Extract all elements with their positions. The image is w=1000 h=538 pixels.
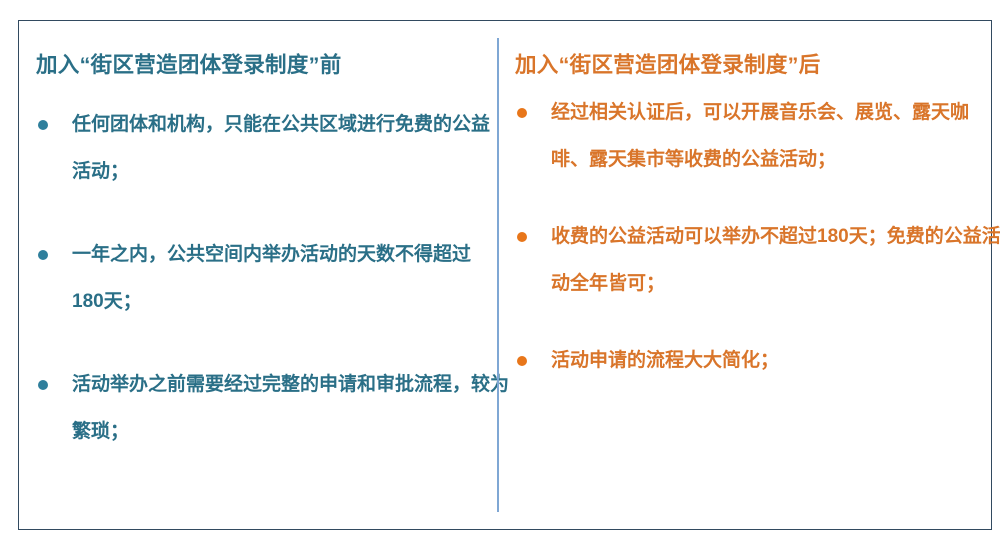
list-item-text: 活动举办之前需要经过完整的申请和审批流程，较为繁琐； xyxy=(72,361,512,455)
list-item-text: 收费的公益活动可以举办不超过180天；免费的公益活动全年皆可； xyxy=(551,213,1000,307)
list-item: 活动申请的流程大大简化； xyxy=(515,337,1000,384)
column-after-bullet-list: 经过相关认证后，可以开展音乐会、展览、露天咖啡、露天集市等收费的公益活动； 收费… xyxy=(515,89,982,384)
bullet-dot-icon xyxy=(38,380,48,390)
list-item-text: 经过相关认证后，可以开展音乐会、展览、露天咖啡、露天集市等收费的公益活动； xyxy=(551,89,1000,183)
column-before-title: 加入“街区营造团体登录制度”前 xyxy=(36,48,483,79)
list-item: 收费的公益活动可以举办不超过180天；免费的公益活动全年皆可； xyxy=(515,213,1000,307)
bullet-dot-icon xyxy=(38,250,48,260)
bullet-dot-icon xyxy=(517,356,527,366)
list-item: 活动举办之前需要经过完整的申请和审批流程，较为繁琐； xyxy=(36,361,512,455)
bullet-dot-icon xyxy=(517,108,527,118)
comparison-infographic: 加入“街区营造团体登录制度”前 任何团体和机构，只能在公共区域进行免费的公益活动… xyxy=(0,0,1000,538)
bullet-dot-icon xyxy=(517,232,527,242)
list-item: 经过相关认证后，可以开展音乐会、展览、露天咖啡、露天集市等收费的公益活动； xyxy=(515,89,1000,183)
list-item: 任何团体和机构，只能在公共区域进行免费的公益活动； xyxy=(36,101,502,195)
column-before-bullet-list: 任何团体和机构，只能在公共区域进行免费的公益活动； 一年之内，公共空间内举办活动… xyxy=(36,101,483,455)
list-item-text: 任何团体和机构，只能在公共区域进行免费的公益活动； xyxy=(72,101,502,195)
bullet-dot-icon xyxy=(38,120,48,130)
column-divider xyxy=(497,38,499,512)
list-item: 一年之内，公共空间内举办活动的天数不得超过180天； xyxy=(36,231,502,325)
comparison-columns: 加入“街区营造团体登录制度”前 任何团体和机构，只能在公共区域进行免费的公益活动… xyxy=(18,20,992,530)
column-after: 加入“街区营造团体登录制度”后 经过相关认证后，可以开展音乐会、展览、露天咖啡、… xyxy=(497,20,992,530)
list-item-text: 活动申请的流程大大简化； xyxy=(551,337,1000,384)
column-after-title: 加入“街区营造团体登录制度”后 xyxy=(515,48,982,79)
column-before: 加入“街区营造团体登录制度”前 任何团体和机构，只能在公共区域进行免费的公益活动… xyxy=(18,20,497,530)
list-item-text: 一年之内，公共空间内举办活动的天数不得超过180天； xyxy=(72,231,502,325)
